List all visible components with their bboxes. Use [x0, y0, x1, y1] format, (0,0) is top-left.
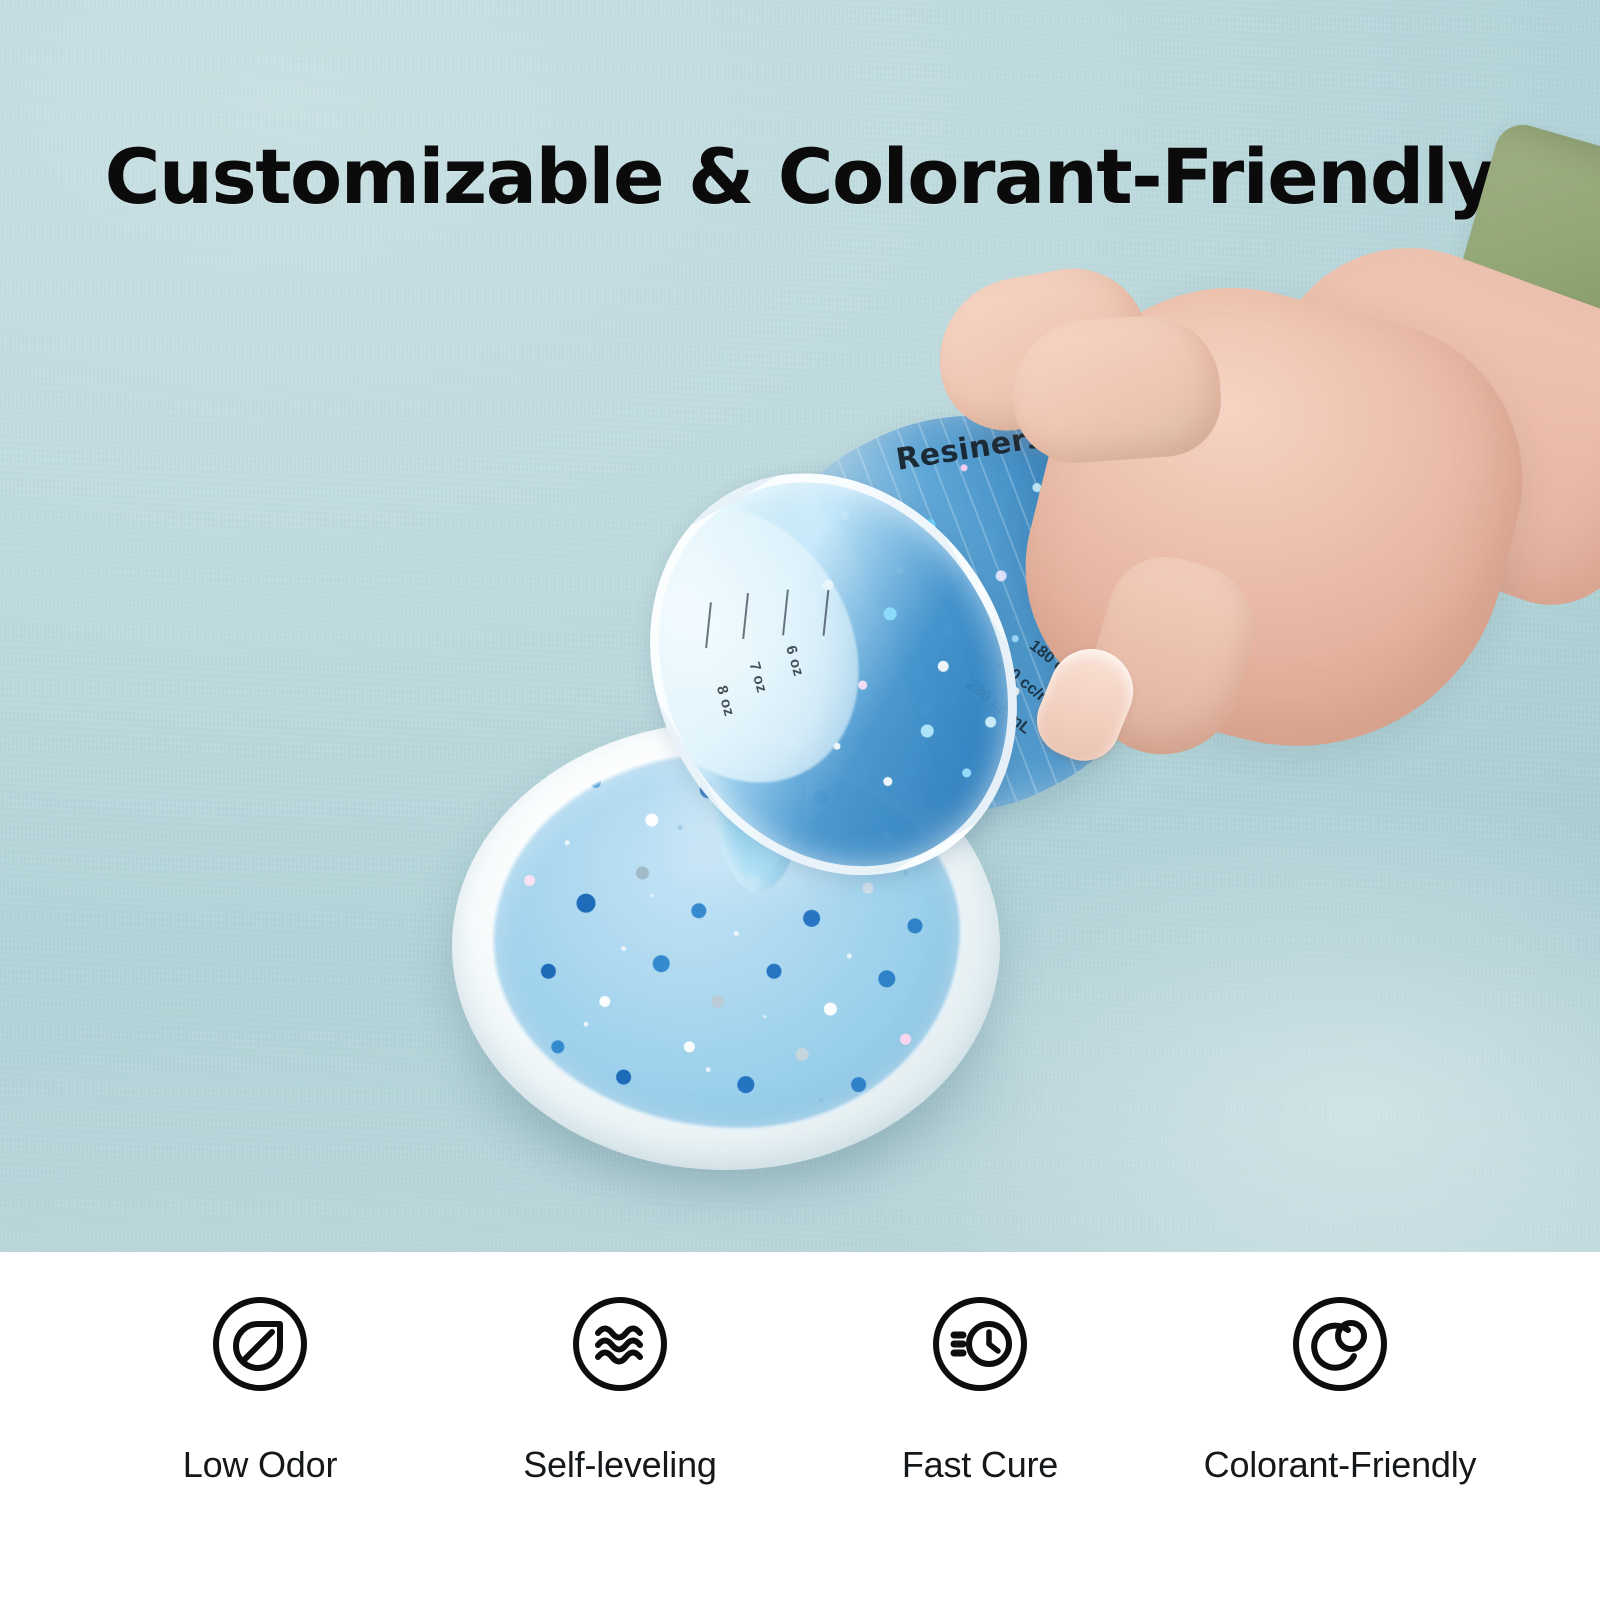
feature-label: Low Odor: [183, 1444, 337, 1486]
fast-clock-icon: [930, 1294, 1030, 1394]
color-mix-icon: [1290, 1294, 1390, 1394]
product-infographic: Customizable & Colorant-Friendly Resiner…: [0, 0, 1600, 1600]
feature-item-colorant-friendly[interactable]: Colorant-Friendly: [1190, 1252, 1490, 1486]
feature-label: Colorant-Friendly: [1204, 1444, 1477, 1486]
page-title: Customizable & Colorant-Friendly: [0, 132, 1600, 221]
feature-row: Low Odor Self-leveling: [0, 1252, 1600, 1600]
leaf-icon: [210, 1294, 310, 1394]
feature-item-low-odor[interactable]: Low Odor: [110, 1252, 410, 1486]
hero-photo: Customizable & Colorant-Friendly Resiner…: [0, 0, 1600, 1252]
waves-icon: [570, 1294, 670, 1394]
feature-label: Fast Cure: [902, 1444, 1058, 1486]
feature-item-fast-cure[interactable]: Fast Cure: [830, 1252, 1130, 1486]
feature-panel: Low Odor Self-leveling: [0, 1252, 1600, 1600]
feature-label: Self-leveling: [523, 1444, 717, 1486]
feature-item-self-leveling[interactable]: Self-leveling: [470, 1252, 770, 1486]
